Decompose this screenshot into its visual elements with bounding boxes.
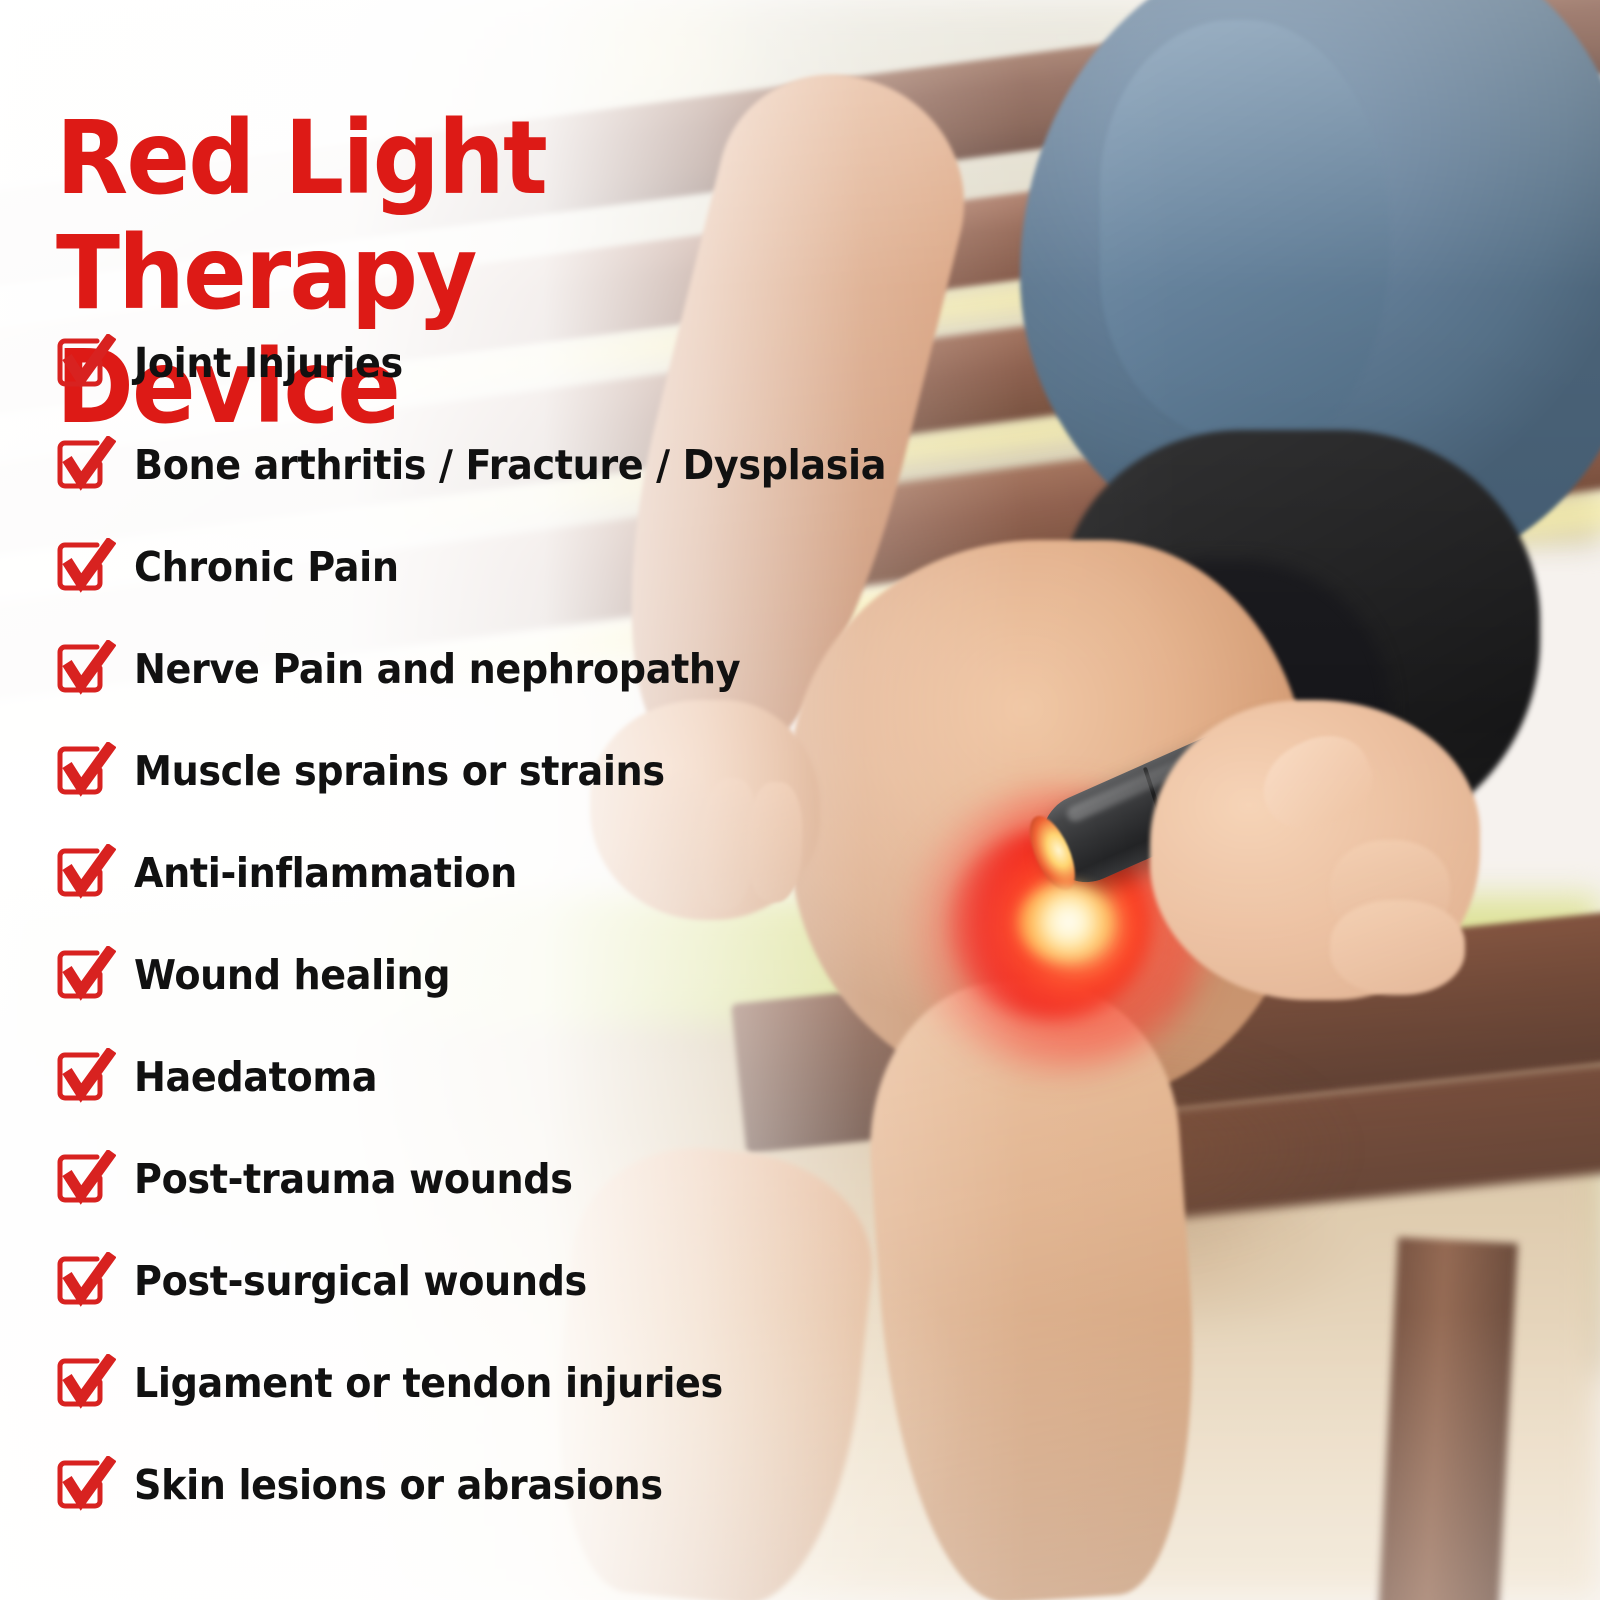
checked-checkbox-icon [54, 1048, 134, 1106]
checked-checkbox-icon [54, 1354, 134, 1412]
checked-checkbox-icon [54, 1252, 134, 1310]
list-item-8: Post-trauma wounds [54, 1128, 1054, 1230]
checked-checkbox-icon [54, 844, 134, 902]
list-item-label: Wound healing [134, 955, 450, 996]
checked-checkbox-icon [54, 436, 134, 494]
list-item-label: Haedatoma [134, 1057, 377, 1098]
checked-checkbox-icon [54, 1150, 134, 1208]
list-item-label: Post-surgical wounds [134, 1261, 587, 1302]
checked-checkbox-icon [54, 946, 134, 1004]
list-item-9: Post-surgical wounds [54, 1230, 1054, 1332]
list-item-label: Post-trauma wounds [134, 1159, 573, 1200]
checked-checkbox-icon [54, 1456, 134, 1514]
list-item-10: Ligament or tendon injuries [54, 1332, 1054, 1434]
list-item-label: Bone arthritis / Fracture / Dysplasia [134, 445, 886, 486]
checked-checkbox-icon [54, 640, 134, 698]
checked-checkbox-icon [54, 742, 134, 800]
checked-checkbox-icon [54, 334, 134, 392]
checked-checkbox-icon [54, 538, 134, 596]
list-item-7: Haedatoma [54, 1026, 1054, 1128]
list-item-5: Anti-inflammation [54, 822, 1054, 924]
list-item-6: Wound healing [54, 924, 1054, 1026]
list-item-label: Chronic Pain [134, 547, 399, 588]
list-item-label: Muscle sprains or strains [134, 751, 665, 792]
list-item-1: Bone arthritis / Fracture / Dysplasia [54, 414, 1054, 516]
list-item-label: Ligament or tendon injuries [134, 1363, 723, 1404]
list-item-label: Anti-inflammation [134, 853, 517, 894]
list-item-label: Nerve Pain and nephropathy [134, 649, 740, 690]
list-item-label: Skin lesions or abrasions [134, 1465, 663, 1506]
list-item-2: Chronic Pain [54, 516, 1054, 618]
list-item-4: Muscle sprains or strains [54, 720, 1054, 822]
benefits-checklist: Joint Injuries Bone arthritis / Fracture… [54, 312, 1054, 1536]
list-item-0: Joint Injuries [54, 312, 1054, 414]
list-item-label: Joint Injuries [134, 343, 403, 384]
poster-canvas: Red Light Therapy Device Joint Injuries … [0, 0, 1600, 1600]
list-item-3: Nerve Pain and nephropathy [54, 618, 1054, 720]
list-item-11: Skin lesions or abrasions [54, 1434, 1054, 1536]
poster-content: Red Light Therapy Device Joint Injuries … [0, 0, 1600, 1600]
